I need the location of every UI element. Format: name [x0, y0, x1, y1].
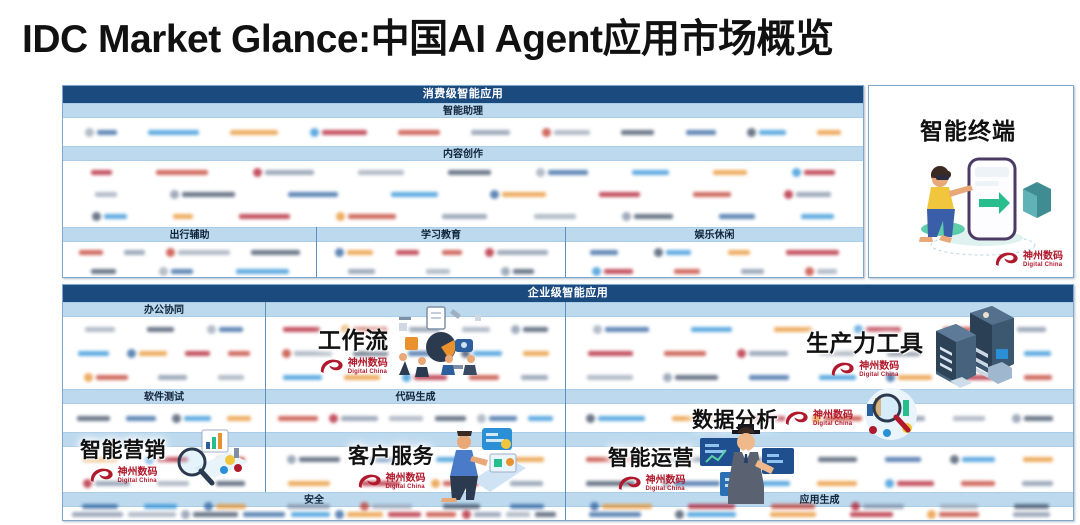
vendor-logo — [792, 168, 835, 177]
vendor-logo-wordmark — [443, 504, 480, 509]
vendor-logo-mark-icon — [586, 414, 595, 423]
vendor-logo-mark-icon — [490, 190, 499, 199]
vendor-logo-wordmark — [341, 416, 378, 421]
vendor-logo-wordmark — [674, 269, 700, 274]
vendor-logo-wordmark — [361, 481, 400, 486]
vendor-logo — [506, 512, 530, 517]
logo-row-workflow-1 — [266, 317, 565, 341]
subheader-code-generation[interactable]: 代码生成 — [266, 389, 565, 404]
vendor-logo-wordmark — [589, 512, 641, 517]
vendor-logo-wordmark — [1024, 416, 1053, 421]
vendor-logo — [812, 414, 862, 423]
vendor-logo — [500, 455, 544, 464]
vendor-logo — [335, 248, 373, 257]
spacer-bar-right-top — [566, 302, 1073, 317]
vendor-logo-mark-icon — [951, 349, 960, 358]
vendor-logo-wordmark — [963, 351, 993, 356]
spacer-bar-mid-bottom — [266, 432, 565, 447]
vendor-logo-wordmark — [396, 250, 419, 255]
vendor-logo — [747, 128, 786, 137]
vendor-logo-wordmark — [474, 512, 501, 517]
vendor-logo-wordmark — [674, 481, 720, 486]
vendor-logo-mark-icon — [85, 128, 94, 137]
vendor-logo-mark-icon — [477, 414, 486, 423]
vendor-logo-wordmark — [96, 375, 128, 380]
vendor-logo — [159, 267, 193, 276]
vendor-logo-mark-icon — [500, 455, 509, 464]
vendor-logo-wordmark — [497, 250, 548, 255]
vendor-logo — [95, 192, 117, 197]
vendor-logo-wordmark — [147, 327, 174, 332]
vendor-logo-wordmark — [801, 214, 834, 219]
vendor-logo — [1014, 504, 1049, 509]
vendor-logo-wordmark — [898, 375, 932, 380]
vendor-logo-wordmark — [817, 130, 841, 135]
vendor-logo — [448, 170, 491, 175]
enterprise-applications-panel: 企业级智能应用 办公协同 软件测试 代码 — [62, 284, 1074, 521]
vendor-logo-wordmark — [236, 269, 289, 274]
vendor-logo-wordmark — [426, 269, 450, 274]
vendor-logo — [599, 192, 640, 197]
vendor-logo — [536, 168, 588, 177]
vendor-logo-mark-icon — [287, 455, 296, 464]
vendor-logo-wordmark — [963, 375, 994, 380]
vendor-logo-wordmark — [251, 250, 300, 255]
vendor-logo — [389, 416, 423, 421]
vendor-logo — [805, 267, 837, 276]
vendor-logo — [1023, 457, 1053, 462]
vendor-logo-wordmark — [473, 351, 502, 356]
vendor-logo — [819, 351, 855, 356]
vendor-logo-mark-icon — [536, 168, 545, 177]
vendor-logo-mark-icon — [927, 510, 936, 519]
vendor-logo — [510, 481, 543, 486]
vendor-logo — [128, 512, 176, 517]
vendor-logo-wordmark — [744, 416, 785, 421]
vendor-logo — [172, 414, 211, 423]
vendor-logo-mark-icon — [83, 479, 92, 488]
vendor-logo-wordmark — [962, 457, 995, 462]
vendor-logo-mark-icon — [84, 373, 93, 382]
vendor-logo-wordmark — [128, 512, 176, 517]
vendor-logo-wordmark — [436, 457, 471, 462]
vendor-logo — [501, 267, 534, 276]
vendor-logo — [336, 212, 396, 221]
vendor-logo-wordmark — [283, 375, 322, 380]
vendor-logo-mark-icon — [127, 349, 136, 358]
vendor-logo — [236, 269, 289, 274]
digital-china-swoosh-icon — [994, 250, 1020, 269]
vendor-logo — [79, 250, 103, 255]
vendor-logo — [477, 414, 517, 423]
vendor-logo — [890, 416, 925, 421]
vendor-logo-wordmark — [599, 192, 640, 197]
vendor-logo-wordmark — [953, 416, 985, 421]
vendor-logo — [521, 375, 548, 380]
vendor-logo — [854, 325, 901, 334]
vendor-logo — [82, 504, 118, 509]
vendor-logo — [593, 325, 649, 334]
vendor-logo — [471, 130, 510, 135]
vendor-logo — [654, 248, 691, 257]
vendor-logo-wordmark — [391, 192, 438, 197]
vendor-logo-wordmark — [666, 250, 691, 255]
vendor-logo — [590, 502, 652, 511]
vendor-logo — [443, 504, 480, 509]
vendor-logo-mark-icon — [431, 479, 440, 488]
vendor-logo-wordmark — [786, 250, 839, 255]
vendor-logo-wordmark — [353, 351, 388, 356]
vendor-logo-wordmark — [288, 192, 338, 197]
logo-row-content-creation-2 — [63, 183, 863, 205]
vendor-logo-wordmark — [1017, 327, 1046, 332]
vendor-logo — [426, 269, 450, 274]
vendor-logo-wordmark — [774, 327, 812, 332]
vendor-logo — [77, 416, 110, 421]
vendor-logo-wordmark — [369, 457, 407, 462]
vendor-logo-mark-icon — [181, 510, 190, 519]
vendor-logo-mark-icon — [593, 325, 602, 334]
vendor-logo-wordmark — [82, 504, 118, 509]
vendor-logo-wordmark — [1023, 457, 1053, 462]
vendor-logo — [621, 130, 654, 135]
vendor-logo — [672, 416, 716, 421]
vendor-logo-wordmark — [728, 250, 750, 255]
vendor-logo-wordmark — [158, 375, 187, 380]
vendor-logo-mark-icon — [511, 325, 520, 334]
vendor-logo-wordmark — [528, 416, 553, 421]
vendor-logo — [528, 416, 553, 421]
enterprise-right-column — [565, 302, 1073, 492]
vendor-logo-wordmark — [91, 269, 116, 274]
vendor-logo-wordmark — [510, 504, 544, 509]
vendor-logo — [278, 416, 318, 421]
vendor-logo-wordmark — [353, 327, 387, 332]
vendor-logo-wordmark — [796, 192, 831, 197]
enterprise-left-column: 办公协同 软件测试 — [63, 302, 265, 492]
vendor-logo-wordmark — [228, 351, 250, 356]
vendor-logo-mark-icon — [402, 373, 411, 382]
vendor-logo — [534, 214, 576, 219]
vendor-logo-wordmark — [598, 416, 645, 421]
vendor-logo-mark-icon — [663, 373, 672, 382]
vendor-logo-wordmark — [85, 327, 115, 332]
vendor-logo — [943, 327, 975, 332]
vendor-logo-wordmark — [534, 214, 576, 219]
vendor-logo-wordmark — [602, 504, 652, 509]
vendor-logo — [719, 214, 755, 219]
vendor-logo — [535, 512, 556, 517]
vendor-logo-wordmark — [139, 351, 167, 356]
vendor-logo-wordmark — [691, 327, 732, 332]
vendor-logo-mark-icon — [792, 168, 801, 177]
vendor-logo-wordmark — [687, 512, 736, 517]
logo-row-productivity-3 — [566, 365, 1073, 389]
vendor-logo-wordmark — [512, 457, 544, 462]
vendor-logo — [91, 170, 112, 175]
vendor-logo-wordmark — [398, 130, 440, 135]
vendor-logo-wordmark — [358, 170, 404, 175]
brand-en: Digital China — [1023, 262, 1063, 268]
vendor-logo — [737, 349, 788, 358]
vendor-logo-mark-icon — [747, 128, 756, 137]
vendor-logo — [145, 455, 188, 464]
vendor-logo-mark-icon — [654, 248, 663, 257]
vendor-logo — [1013, 512, 1050, 517]
vendor-logo — [490, 190, 546, 199]
vendor-logo-wordmark — [747, 481, 790, 486]
vendor-logo-wordmark — [819, 375, 856, 380]
vendor-logo-wordmark — [1024, 375, 1052, 380]
vendor-logo — [310, 128, 367, 137]
vendor-logo — [590, 250, 618, 255]
vendor-logo — [344, 375, 380, 380]
vendor-logo-mark-icon — [92, 212, 101, 221]
vendor-logo-wordmark — [83, 457, 117, 462]
vendor-logo — [851, 502, 904, 511]
vendor-logo-wordmark — [414, 375, 447, 380]
vendor-logo-wordmark — [554, 130, 590, 135]
vendor-logo-wordmark — [408, 351, 440, 356]
vendor-logo-wordmark — [818, 457, 857, 462]
vendor-logo — [770, 512, 816, 517]
vendor-logo-wordmark — [435, 416, 466, 421]
vendor-logo — [402, 373, 447, 382]
enterprise-middle-column: 代码生成 — [265, 302, 565, 492]
vendor-logo-wordmark — [442, 214, 487, 219]
vendor-logo — [239, 214, 290, 219]
vendor-logo-wordmark — [348, 214, 396, 219]
vendor-logo-wordmark — [288, 481, 330, 486]
vendor-logo — [369, 457, 407, 462]
vendor-logo — [588, 351, 633, 356]
subheader-content-creation[interactable]: 内容创作 — [63, 146, 863, 161]
page-title: IDC Market Glance:中国AI Agent应用市场概览 — [22, 14, 1068, 66]
vendor-logo — [91, 269, 116, 274]
vendor-logo — [291, 512, 330, 517]
vendor-logo-wordmark — [388, 512, 421, 517]
vendor-logo-wordmark — [719, 214, 755, 219]
vendor-logo — [227, 416, 251, 421]
vendor-logo — [691, 327, 732, 332]
vendor-logo — [83, 479, 130, 488]
vendor-logo — [675, 510, 736, 519]
logo-row-productivity-2 — [566, 341, 1073, 365]
vendor-logo-wordmark — [157, 481, 189, 486]
vendor-logo-wordmark — [662, 457, 707, 462]
vendor-logo — [181, 510, 238, 519]
spacer-bar-right-mid — [566, 389, 1073, 404]
vendor-logo-wordmark — [278, 416, 318, 421]
vendor-logo — [83, 457, 117, 462]
vendor-logo — [348, 269, 375, 274]
vendor-logo-wordmark — [502, 192, 546, 197]
vendor-logo — [388, 512, 421, 517]
vendor-logo-wordmark — [171, 269, 193, 274]
vendor-logo — [632, 170, 669, 175]
slide-canvas: IDC Market Glance:中国AI Agent应用市场概览 消费级智能… — [0, 0, 1080, 525]
vendor-logo — [251, 250, 300, 255]
digital-china-text: 神州数码 Digital China — [1023, 252, 1063, 268]
vendor-logo-mark-icon — [590, 502, 599, 511]
vendor-logo-wordmark — [148, 130, 199, 135]
brand-cn: 神州数码 — [1023, 252, 1063, 262]
subheader-software-testing[interactable]: 软件测试 — [63, 389, 265, 404]
vendor-logo-wordmark — [510, 481, 543, 486]
vendor-logo — [586, 481, 635, 486]
vendor-logo — [148, 130, 199, 135]
vendor-logo-mark-icon — [805, 267, 814, 276]
vendor-logo — [592, 267, 633, 276]
vendor-logo — [523, 351, 549, 356]
vendor-logo-mark-icon — [341, 325, 350, 334]
vendor-logo-wordmark — [78, 351, 109, 356]
vendor-logo-wordmark — [124, 250, 145, 255]
consumer-bottom-columns: 出行辅助 学习教育 娱乐休闲 — [63, 227, 863, 278]
vendor-logo-wordmark — [548, 170, 588, 175]
vendor-logo-wordmark — [426, 512, 456, 517]
consumer-section-header: 消费级智能应用 — [63, 86, 863, 103]
vendor-logo — [589, 512, 641, 517]
vendor-logo — [461, 349, 502, 358]
vendor-logo — [961, 481, 995, 486]
vendor-logo-wordmark — [104, 214, 127, 219]
vendor-logo-wordmark — [675, 375, 718, 380]
vendor-logo-mark-icon — [622, 212, 631, 221]
vendor-logo-wordmark — [621, 130, 654, 135]
vendor-logo-wordmark — [686, 130, 716, 135]
vendor-logo-wordmark — [749, 375, 789, 380]
enterprise-columns: 办公协同 软件测试 代码生成 — [63, 302, 1073, 492]
vendor-logo-wordmark — [885, 457, 921, 462]
subheader-office-collaboration[interactable]: 办公协同 — [63, 302, 265, 317]
vendor-logo-wordmark — [347, 250, 373, 255]
vendor-logo — [409, 327, 440, 332]
vendor-logo-wordmark — [817, 481, 857, 486]
vendor-logo-wordmark — [173, 214, 193, 219]
vendor-logo-wordmark — [866, 327, 901, 332]
vendor-logo-mark-icon — [335, 510, 344, 519]
vendor-logo-wordmark — [216, 481, 245, 486]
vendor-logo — [78, 351, 109, 356]
vendor-logo-wordmark — [604, 269, 633, 274]
vendor-logo — [230, 130, 278, 135]
vendor-logo-wordmark — [218, 375, 244, 380]
vendor-logo — [253, 168, 314, 177]
vendor-logo-mark-icon — [662, 479, 671, 488]
vendor-logo-mark-icon — [329, 414, 338, 423]
vendor-logo — [662, 457, 707, 462]
vendor-logo-mark-icon — [253, 168, 262, 177]
vendor-logo — [587, 375, 633, 380]
logo-row-workflow-3 — [266, 365, 565, 389]
vendor-logo-wordmark — [749, 351, 788, 356]
logo-row-code-generation — [266, 404, 565, 432]
vendor-logo — [408, 351, 440, 356]
subheader-learning-education[interactable]: 学习教育 — [317, 227, 565, 242]
logo-row-office-1 — [63, 317, 265, 341]
vendor-logo — [510, 504, 544, 509]
vendor-logo — [287, 504, 330, 509]
logo-row-travel-1 — [63, 242, 316, 262]
smart-terminal-inner: 智能终端 — [869, 86, 1073, 277]
vendor-logo-wordmark — [442, 250, 462, 255]
vendor-logo — [85, 128, 117, 137]
vendor-logo-wordmark — [804, 170, 835, 175]
vendor-logo — [84, 373, 128, 382]
vendor-logo — [217, 457, 245, 462]
vendor-logo — [288, 481, 330, 486]
spacer-bar-right-bottom — [566, 432, 1073, 447]
vendor-logo-wordmark — [824, 416, 862, 421]
vendor-logo — [431, 479, 479, 488]
subheader-travel-assist[interactable]: 出行辅助 — [63, 227, 316, 242]
vendor-logo-wordmark — [605, 327, 649, 332]
logo-row-learning-1 — [317, 242, 565, 262]
vendor-logo-mark-icon — [886, 373, 895, 382]
vendor-logo — [156, 170, 208, 175]
vendor-logo-mark-icon — [336, 212, 345, 221]
vendor-logo-wordmark — [389, 416, 423, 421]
vendor-logo-wordmark — [230, 130, 278, 135]
vendor-logo-wordmark — [72, 512, 123, 517]
column-travel-assist: 出行辅助 — [63, 227, 316, 278]
vendor-logo — [426, 512, 456, 517]
vendor-logo-mark-icon — [166, 248, 175, 257]
vendor-logo-wordmark — [1013, 512, 1050, 517]
vendor-logo — [462, 327, 490, 332]
vendor-logo-wordmark — [182, 192, 235, 197]
vendor-logo — [127, 349, 167, 358]
vendor-logo-wordmark — [184, 416, 211, 421]
vendor-logo-mark-icon — [145, 455, 154, 464]
subheader-entertainment[interactable]: 娱乐休闲 — [566, 227, 863, 242]
vendor-logo-wordmark — [939, 512, 979, 517]
vendor-logo-wordmark — [97, 130, 117, 135]
vendor-logo — [158, 375, 187, 380]
vendor-logo-mark-icon — [851, 502, 860, 511]
vendor-logo-mark-icon — [675, 510, 684, 519]
vendor-logo — [391, 192, 438, 197]
vendor-logo-wordmark — [347, 512, 383, 517]
vendor-logo-mark-icon — [485, 248, 494, 257]
vendor-logo-wordmark — [590, 250, 618, 255]
vendor-logo-wordmark — [1022, 481, 1053, 486]
vendor-logo — [749, 375, 789, 380]
consumer-applications-panel: 消费级智能应用 智能助理 内容创作 出行辅助 学习教育 娱乐休闲 — [62, 85, 864, 278]
vendor-logo — [1017, 327, 1046, 332]
vendor-logo — [542, 128, 590, 137]
vendor-logo-mark-icon — [854, 325, 863, 334]
vendor-logo — [282, 349, 332, 358]
vendor-logo — [741, 269, 764, 274]
subheader-smart-assistant[interactable]: 智能助理 — [63, 103, 863, 118]
vendor-logo — [173, 214, 193, 219]
vendor-logo — [736, 455, 790, 464]
column-entertainment: 娱乐休闲 — [565, 227, 863, 278]
vendor-logo — [817, 481, 857, 486]
vendor-logo-wordmark — [348, 269, 375, 274]
logo-row-entertainment-2 — [566, 262, 863, 278]
vendor-logo-wordmark — [462, 327, 490, 332]
spacer-bar-mid-top — [266, 302, 565, 317]
vendor-logo — [442, 214, 487, 219]
vendor-logo-wordmark — [239, 214, 290, 219]
vendor-logo-wordmark — [443, 481, 479, 486]
vendor-logo-wordmark — [890, 416, 925, 421]
vendor-logo-wordmark — [1024, 351, 1051, 356]
vendor-logo — [953, 416, 985, 421]
